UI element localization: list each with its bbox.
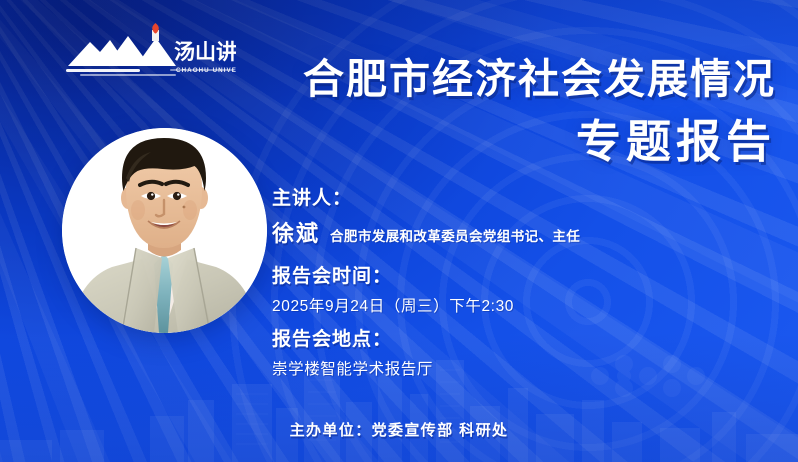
- poster-root: 汤山讲坛 CHAOHU UNIVERSITY 汤山讲坛 CHAOHU UNIVE…: [0, 0, 798, 462]
- speaker-portrait: [62, 128, 267, 333]
- portrait-illustration: [62, 128, 267, 333]
- event-details: 主讲人： 徐斌 合肥市发展和改革委员会党组书记、主任 报告会时间： 2025年9…: [272, 186, 742, 379]
- place-label: 报告会地点：: [272, 327, 742, 352]
- speaker-label: 主讲人：: [272, 186, 742, 211]
- speaker-title: 合肥市发展和改革委员会党组书记、主任: [330, 225, 580, 245]
- time-value: 2025年9月24日（周三）下午2:30: [272, 294, 742, 316]
- footer: 主办单位：党委宣传部 科研处: [0, 419, 798, 440]
- speaker-name: 徐斌: [272, 216, 320, 248]
- place-value: 崇学楼智能学术报告厅: [272, 357, 742, 379]
- time-label: 报告会时间：: [272, 264, 742, 289]
- organizer-text: 主办单位：党委宣传部 科研处: [290, 422, 509, 439]
- title-line-1: 合肥市经济社会发展情况: [0, 56, 776, 104]
- speaker-row: 徐斌 合肥市发展和改革委员会党组书记、主任: [272, 216, 742, 248]
